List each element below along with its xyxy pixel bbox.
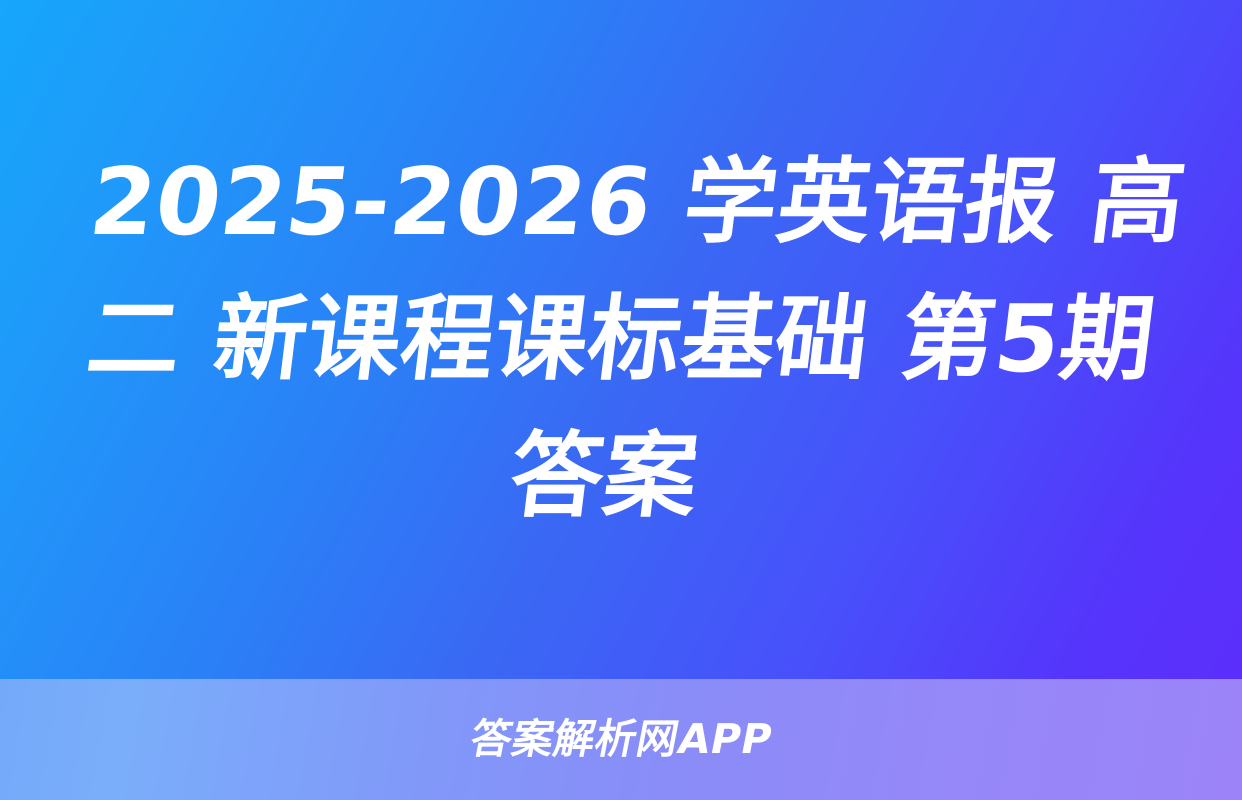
brand-watermark: 答案解析网APP bbox=[467, 719, 776, 760]
hero-banner: 2025-2026 学英语报 高二 新课程课标基础 第5期答案 bbox=[0, 0, 1242, 679]
poster-card: 2025-2026 学英语报 高二 新课程课标基础 第5期答案 答案解析网APP bbox=[0, 0, 1242, 800]
footer-brand-bar: 答案解析网APP bbox=[0, 679, 1242, 800]
page-title: 2025-2026 学英语报 高二 新课程课标基础 第5期答案 bbox=[33, 134, 1209, 545]
